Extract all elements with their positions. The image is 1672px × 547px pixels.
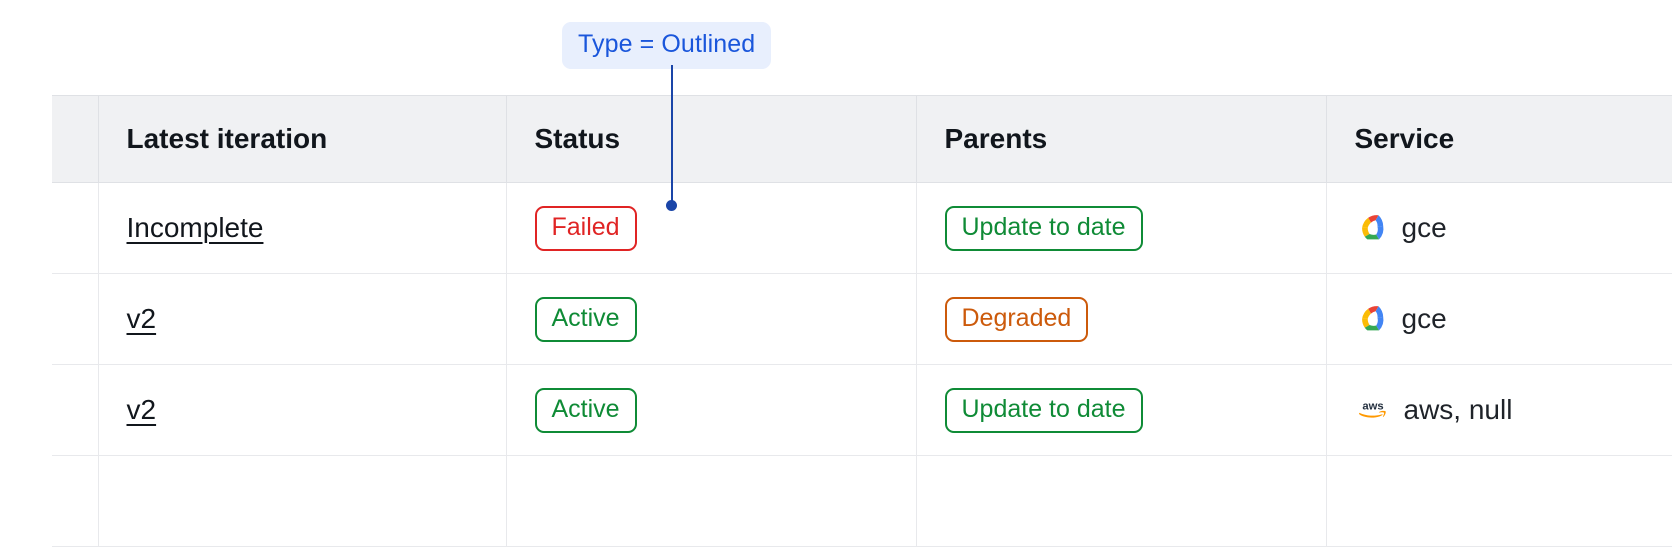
column-header-gutter [52,96,98,183]
column-header-service[interactable]: Service [1326,96,1672,183]
row-gutter-cell [52,183,98,274]
row-gutter-cell [52,456,98,547]
google-cloud-icon [1355,211,1389,245]
cell-latest-iteration: Incomplete [98,183,506,274]
row-gutter-cell [52,274,98,365]
column-header-parents[interactable]: Parents [916,96,1326,183]
table-row: v2 Active Degraded [52,274,1672,365]
cell-parents: Update to date [916,183,1326,274]
cell-service: gce [1326,183,1672,274]
cell-status: Failed [506,183,916,274]
parents-badge: Update to date [945,388,1143,433]
table-container: Latest iteration Status Parents Service … [52,95,1672,547]
latest-iteration-link[interactable]: v2 [127,394,157,425]
cell-latest-iteration: v2 [98,365,506,456]
latest-iteration-link[interactable]: Incomplete [127,212,264,243]
latest-iteration-link[interactable]: v2 [127,303,157,334]
cell-service: aws aws, null [1326,365,1672,456]
service-label: aws, null [1404,394,1513,426]
table-header: Latest iteration Status Parents Service [52,96,1672,183]
row-gutter-cell [52,365,98,456]
service-value: gce [1355,211,1672,245]
table-row: Incomplete Failed Update to date [52,183,1672,274]
cell-status: Active [506,365,916,456]
parents-badge: Update to date [945,206,1143,251]
table-header-row: Latest iteration Status Parents Service [52,96,1672,183]
svg-text:aws: aws [1362,400,1383,412]
cell-service: gce [1326,274,1672,365]
parents-badge: Degraded [945,297,1089,342]
aws-icon: aws [1355,397,1391,423]
service-value: gce [1355,302,1672,336]
google-cloud-icon [1355,302,1389,336]
status-badge: Active [535,388,637,433]
column-header-latest-iteration[interactable]: Latest iteration [98,96,506,183]
cell-latest-iteration: v2 [98,274,506,365]
data-table: Latest iteration Status Parents Service … [52,95,1672,547]
table-row: v2 Active Update to date aws aws, [52,365,1672,456]
cell-status: Active [506,274,916,365]
table-body: Incomplete Failed Update to date [52,183,1672,547]
cell-parents: Update to date [916,365,1326,456]
status-badge: Failed [535,206,637,251]
table-row-partial [52,456,1672,547]
cell-service [1326,456,1672,547]
status-badge: Active [535,297,637,342]
annotation-badge: Type = Outlined [562,22,771,69]
cell-parents: Degraded [916,274,1326,365]
column-header-status[interactable]: Status [506,96,916,183]
service-label: gce [1402,212,1447,244]
service-label: gce [1402,303,1447,335]
cell-status [506,456,916,547]
service-value: aws aws, null [1355,394,1672,426]
cell-latest-iteration [98,456,506,547]
cell-parents [916,456,1326,547]
